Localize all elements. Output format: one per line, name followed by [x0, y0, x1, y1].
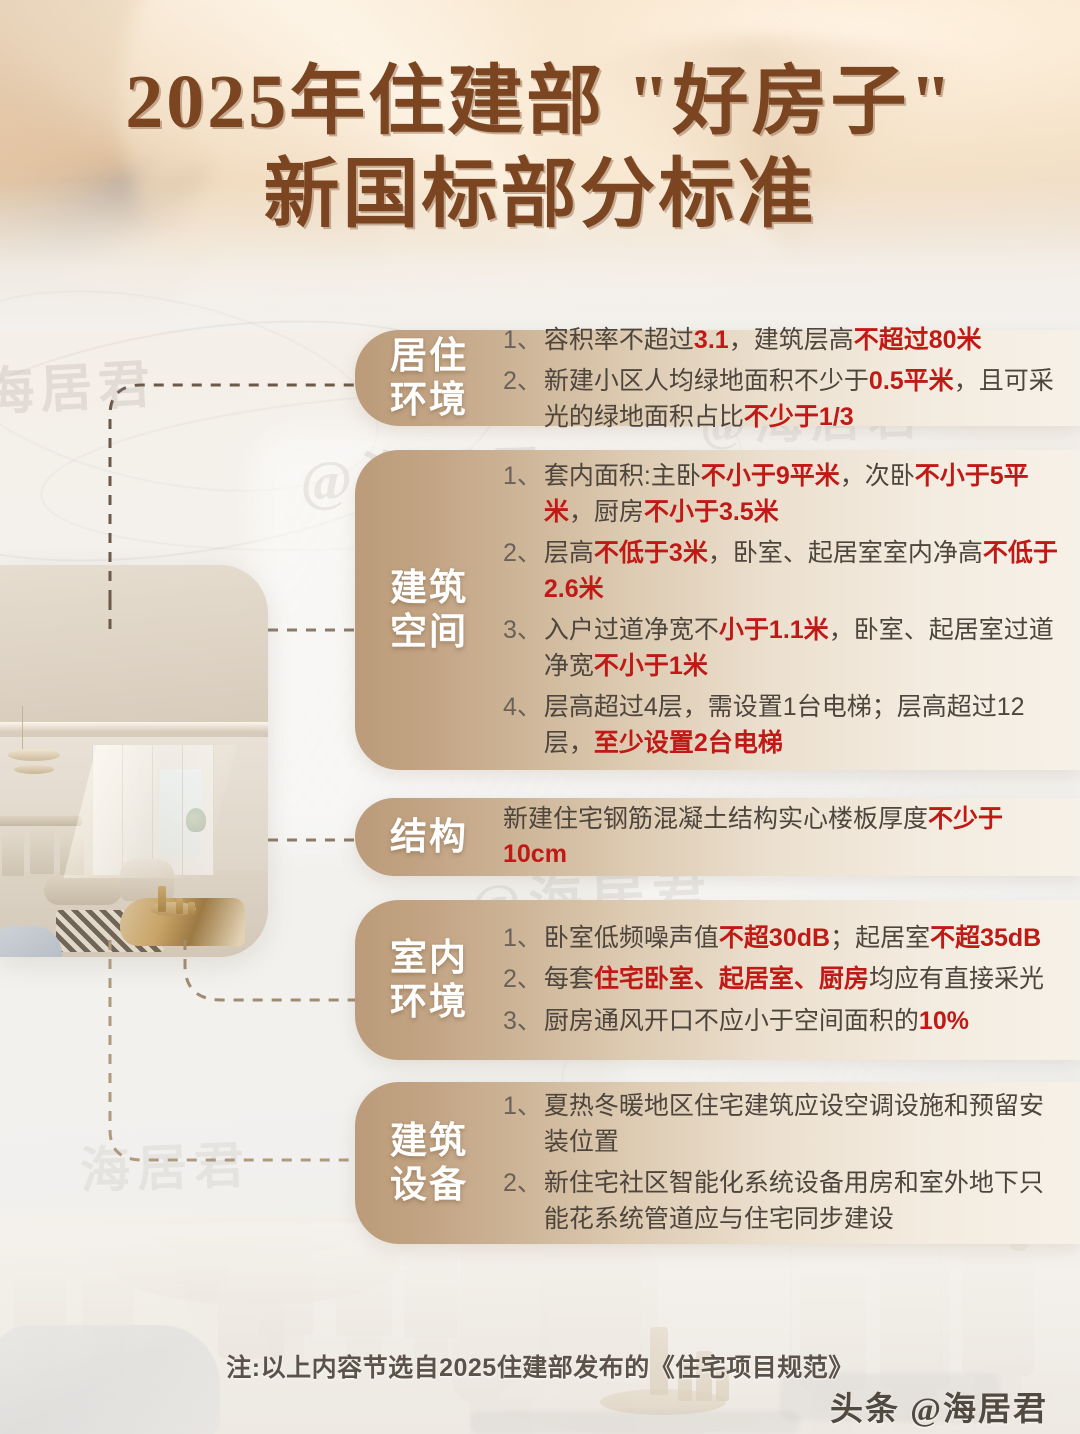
- card-label-line: 居住: [363, 334, 495, 378]
- highlight-value: 不小于1米: [594, 652, 708, 680]
- standard-item-text: 新住宅社区智能化系统设备用房和室外地下只能花系统管道应与住宅同步建设: [544, 1166, 1064, 1237]
- standard-item-number: 1、: [503, 459, 542, 495]
- card-body-living-environment: 1、容积率不超过3.1，建筑层高不超过80米2、新建小区人均绿地面积不少于0.5…: [495, 315, 1080, 442]
- standard-item: 1、夏热冬暖地区住宅建筑应设空调设施和预留安装位置: [503, 1089, 1064, 1160]
- plain-text: 厨房通风开口不应小于空间面积的: [544, 1007, 919, 1035]
- standard-item-text: 层高不低于3米，卧室、起居室室内净高不低于2.6米: [544, 536, 1064, 607]
- card-label-line: 建筑: [363, 566, 495, 610]
- standard-item-number: 3、: [503, 613, 542, 649]
- card-label-line: 建筑: [363, 1119, 495, 1163]
- standard-item-text: 新建小区人均绿地面积不少于0.5平米，且可采光的绿地面积占比不少于1/3: [544, 364, 1064, 435]
- standard-item: 2、每套住宅卧室、起居室、厨房均应有直接采光: [503, 962, 1064, 998]
- card-body-indoor-environment: 1、卧室低频噪声值不超30dB；起居室不超35dB2、每套住宅卧室、起居室、厨房…: [495, 915, 1080, 1046]
- watermark-6: 海居君: [79, 1125, 252, 1203]
- standard-item: 3、入户过道净宽不小于1.1米，卧室、起居室过道净宽不小于1米: [503, 613, 1064, 684]
- standards-card-indoor-environment: 室内环境1、卧室低频噪声值不超30dB；起居室不超35dB2、每套住宅卧室、起居…: [355, 900, 1080, 1060]
- footnote: 注:以上内容节选自2025住建部发布的《住宅项目规范》: [0, 1348, 1080, 1384]
- standard-item-text: 套内面积:主卧不小于9平米，次卧不小于5平米，厨房不小于3.5米: [544, 459, 1064, 530]
- page-title-line-2: 新国标部分标准: [0, 153, 1080, 238]
- highlight-value: 不超过80米: [854, 326, 982, 354]
- standard-item-text: 卧室低频噪声值不超30dB；起居室不超35dB: [544, 921, 1064, 957]
- card-body-building-space: 1、套内面积:主卧不小于9平米，次卧不小于5平米，厨房不小于3.5米2、层高不低…: [495, 453, 1080, 767]
- card-label-line: 环境: [363, 378, 495, 422]
- card-label-indoor-environment: 室内环境: [355, 936, 495, 1023]
- card-body-structure: 新建住宅钢筋混凝土结构实心楼板厚度不少于10cm: [495, 796, 1080, 879]
- standard-item: 2、层高不低于3米，卧室、起居室室内净高不低于2.6米: [503, 536, 1064, 607]
- standard-item-number: 2、: [503, 962, 542, 998]
- standard-item-number: 2、: [503, 364, 542, 400]
- highlight-value: 至少设置2台电梯: [594, 729, 783, 757]
- standard-item-number: 2、: [503, 536, 542, 572]
- standard-item-text: 入户过道净宽不小于1.1米，卧室、起居室过道净宽不小于1米: [544, 613, 1064, 684]
- plain-text: 均应有直接采光: [869, 965, 1044, 993]
- card-label-building-space: 建筑空间: [355, 566, 495, 653]
- card-label-line: 环境: [363, 980, 495, 1024]
- standard-item: 1、套内面积:主卧不小于9平米，次卧不小于5平米，厨房不小于3.5米: [503, 459, 1064, 530]
- plain-text: 入户过道净宽不: [544, 616, 719, 644]
- standard-item-number: 1、: [503, 1089, 542, 1125]
- plain-text: 容积率不超过: [544, 326, 694, 354]
- highlight-value: 0.5平米: [869, 367, 954, 395]
- card-label-structure: 结构: [355, 815, 495, 859]
- standard-item-number: 4、: [503, 690, 542, 726]
- watermark-1: 海居君: [0, 341, 158, 425]
- plain-text: 新建住宅钢筋混凝土结构实心楼板厚度: [503, 805, 928, 833]
- plain-text: 新建小区人均绿地面积不少于: [544, 367, 869, 395]
- plain-text: ，卧室、起居室室内净高: [708, 539, 983, 567]
- card-label-living-environment: 居住环境: [355, 334, 495, 421]
- standards-card-building-equipment: 建筑设备1、夏热冬暖地区住宅建筑应设空调设施和预留安装位置2、新住宅社区智能化系…: [355, 1082, 1080, 1244]
- standard-item-number: 1、: [503, 921, 542, 957]
- plain-text: ，厨房: [569, 498, 644, 526]
- highlight-value: 不小于3.5米: [644, 498, 779, 526]
- standard-item-text: 夏热冬暖地区住宅建筑应设空调设施和预留安装位置: [544, 1089, 1064, 1160]
- standard-item: 2、新建小区人均绿地面积不少于0.5平米，且可采光的绿地面积占比不少于1/3: [503, 364, 1064, 435]
- plain-text: 每套: [544, 965, 594, 993]
- card-label-line: 结构: [363, 815, 495, 859]
- plain-text: ，次卧: [840, 462, 915, 490]
- standard-item: 2、新住宅社区智能化系统设备用房和室外地下只能花系统管道应与住宅同步建设: [503, 1166, 1064, 1237]
- card-label-line: 空间: [363, 610, 495, 654]
- highlight-value: 不小于9平米: [701, 462, 840, 490]
- connector-to-card-4: [185, 940, 370, 1000]
- highlight-value: 10%: [919, 1007, 969, 1035]
- standard-item: 新建住宅钢筋混凝土结构实心楼板厚度不少于10cm: [503, 802, 1064, 873]
- highlight-value: 小于1.1米: [719, 616, 829, 644]
- standard-item: 3、厨房通风开口不应小于空间面积的10%: [503, 1004, 1064, 1040]
- standard-item-number: 3、: [503, 1004, 542, 1040]
- card-label-line: 室内: [363, 936, 495, 980]
- standard-item-text: 新建住宅钢筋混凝土结构实心楼板厚度不少于10cm: [503, 802, 1064, 873]
- standard-item: 4、层高超过4层，需设置1台电梯；层高超过12层，至少设置2台电梯: [503, 690, 1064, 761]
- plain-text: ，建筑层高: [729, 326, 854, 354]
- highlight-value: 不超30dB: [719, 924, 830, 952]
- standard-item-text: 容积率不超过3.1，建筑层高不超过80米: [544, 323, 1064, 359]
- plain-text: 卧室低频噪声值: [544, 924, 719, 952]
- standard-item-number: 1、: [503, 323, 542, 359]
- highlight-value: 住宅卧室、起居室、厨房: [594, 965, 869, 993]
- highlight-value: 不低于3米: [594, 539, 708, 567]
- standard-item: 1、卧室低频噪声值不超30dB；起居室不超35dB: [503, 921, 1064, 957]
- page-title: 2025年住建部 "好房子" 新国标部分标准: [0, 60, 1080, 238]
- plain-text: 层高: [544, 539, 594, 567]
- standard-item-text: 厨房通风开口不应小于空间面积的10%: [544, 1004, 1064, 1040]
- standard-item-text: 每套住宅卧室、起居室、厨房均应有直接采光: [544, 962, 1064, 998]
- standards-card-living-environment: 居住环境1、容积率不超过3.1，建筑层高不超过80米2、新建小区人均绿地面积不少…: [355, 330, 1080, 426]
- plain-text: 套内面积:主卧: [544, 462, 701, 490]
- highlight-value: 3.1: [694, 326, 729, 354]
- card-label-line: 设备: [363, 1163, 495, 1207]
- standards-card-structure: 结构新建住宅钢筋混凝土结构实心楼板厚度不少于10cm: [355, 798, 1080, 876]
- standard-item: 1、容积率不超过3.1，建筑层高不超过80米: [503, 323, 1064, 359]
- card-label-building-equipment: 建筑设备: [355, 1119, 495, 1206]
- plain-text: 新住宅社区智能化系统设备用房和室外地下只能花系统管道应与住宅同步建设: [544, 1169, 1044, 1233]
- standard-item-text: 层高超过4层，需设置1台电梯；层高超过12层，至少设置2台电梯: [544, 690, 1064, 761]
- plain-text: 夏热冬暖地区住宅建筑应设空调设施和预留安装位置: [544, 1092, 1044, 1156]
- highlight-value: 不少于1/3: [744, 403, 854, 431]
- standards-card-building-space: 建筑空间1、套内面积:主卧不小于9平米，次卧不小于5平米，厨房不小于3.5米2、…: [355, 450, 1080, 770]
- page-title-line-1: 2025年住建部 "好房子": [0, 60, 1080, 145]
- brand-handle: 头条 @海居君: [830, 1382, 1048, 1430]
- plain-text: ；起居室: [830, 924, 930, 952]
- highlight-value: 不超35dB: [930, 924, 1041, 952]
- standard-item-number: 2、: [503, 1166, 542, 1202]
- card-body-building-equipment: 1、夏热冬暖地区住宅建筑应设空调设施和预留安装位置2、新住宅社区智能化系统设备用…: [495, 1083, 1080, 1243]
